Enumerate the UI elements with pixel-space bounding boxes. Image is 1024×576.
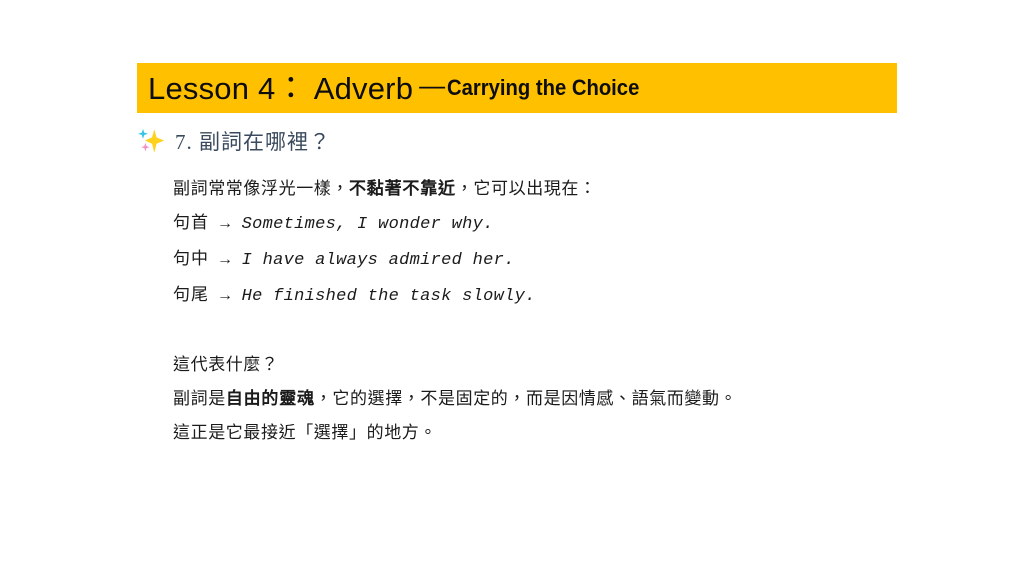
lesson-subtitle: Carrying the Choice [447, 77, 639, 99]
example-row: 句尾→He finished the task slowly. [173, 278, 973, 314]
slide-canvas: Lesson 4： Adverb — Carrying the Choice 7… [0, 0, 1024, 576]
section-heading-label: 7. 副詞在哪裡？ [175, 126, 331, 156]
conclusion-text-before: 副詞是 [173, 389, 226, 408]
intro-text-emphasis: 不黏著不靠近 [349, 179, 456, 198]
conclusion-text-after: ，它的選擇，不是固定的，而是因情感、語氣而變動。 [315, 389, 737, 408]
example-sentence: Sometimes, I wonder why. [242, 215, 494, 234]
blank-line-spacer [173, 314, 973, 348]
example-label: 句尾 [173, 285, 209, 304]
example-sentence: He finished the task slowly. [242, 287, 536, 306]
section-heading: 7. 副詞在哪裡？ [136, 126, 331, 156]
intro-text-before: 副詞常常像浮光一樣， [173, 179, 349, 198]
intro-paragraph: 副詞常常像浮光一樣，不黏著不靠近，它可以出現在： [173, 172, 973, 206]
conclusion-paragraph: 副詞是自由的靈魂，它的選擇，不是固定的，而是因情感、語氣而變動。 [173, 382, 973, 416]
sparkles-icon [136, 126, 166, 156]
title-banner: Lesson 4： Adverb — Carrying the Choice [137, 63, 897, 113]
arrow-icon: → [217, 251, 234, 268]
intro-text-after: ，它可以出現在： [456, 179, 597, 198]
lesson-title: Lesson 4： Adverb [148, 73, 413, 104]
conclusion-text-emphasis: 自由的靈魂 [226, 389, 315, 408]
example-label: 句首 [173, 213, 209, 232]
example-row: 句首→Sometimes, I wonder why. [173, 206, 973, 242]
closing-line: 這正是它最接近「選擇」的地方。 [173, 416, 973, 450]
example-sentence: I have always admired her. [242, 251, 515, 270]
example-row: 句中→I have always admired her. [173, 242, 973, 278]
title-em-dash: — [419, 72, 445, 98]
question-line: 這代表什麼？ [173, 348, 973, 382]
arrow-icon: → [217, 215, 234, 232]
arrow-icon: → [217, 287, 234, 304]
body-content: 副詞常常像浮光一樣，不黏著不靠近，它可以出現在： 句首→Sometimes, I… [173, 172, 973, 450]
example-label: 句中 [173, 249, 209, 268]
